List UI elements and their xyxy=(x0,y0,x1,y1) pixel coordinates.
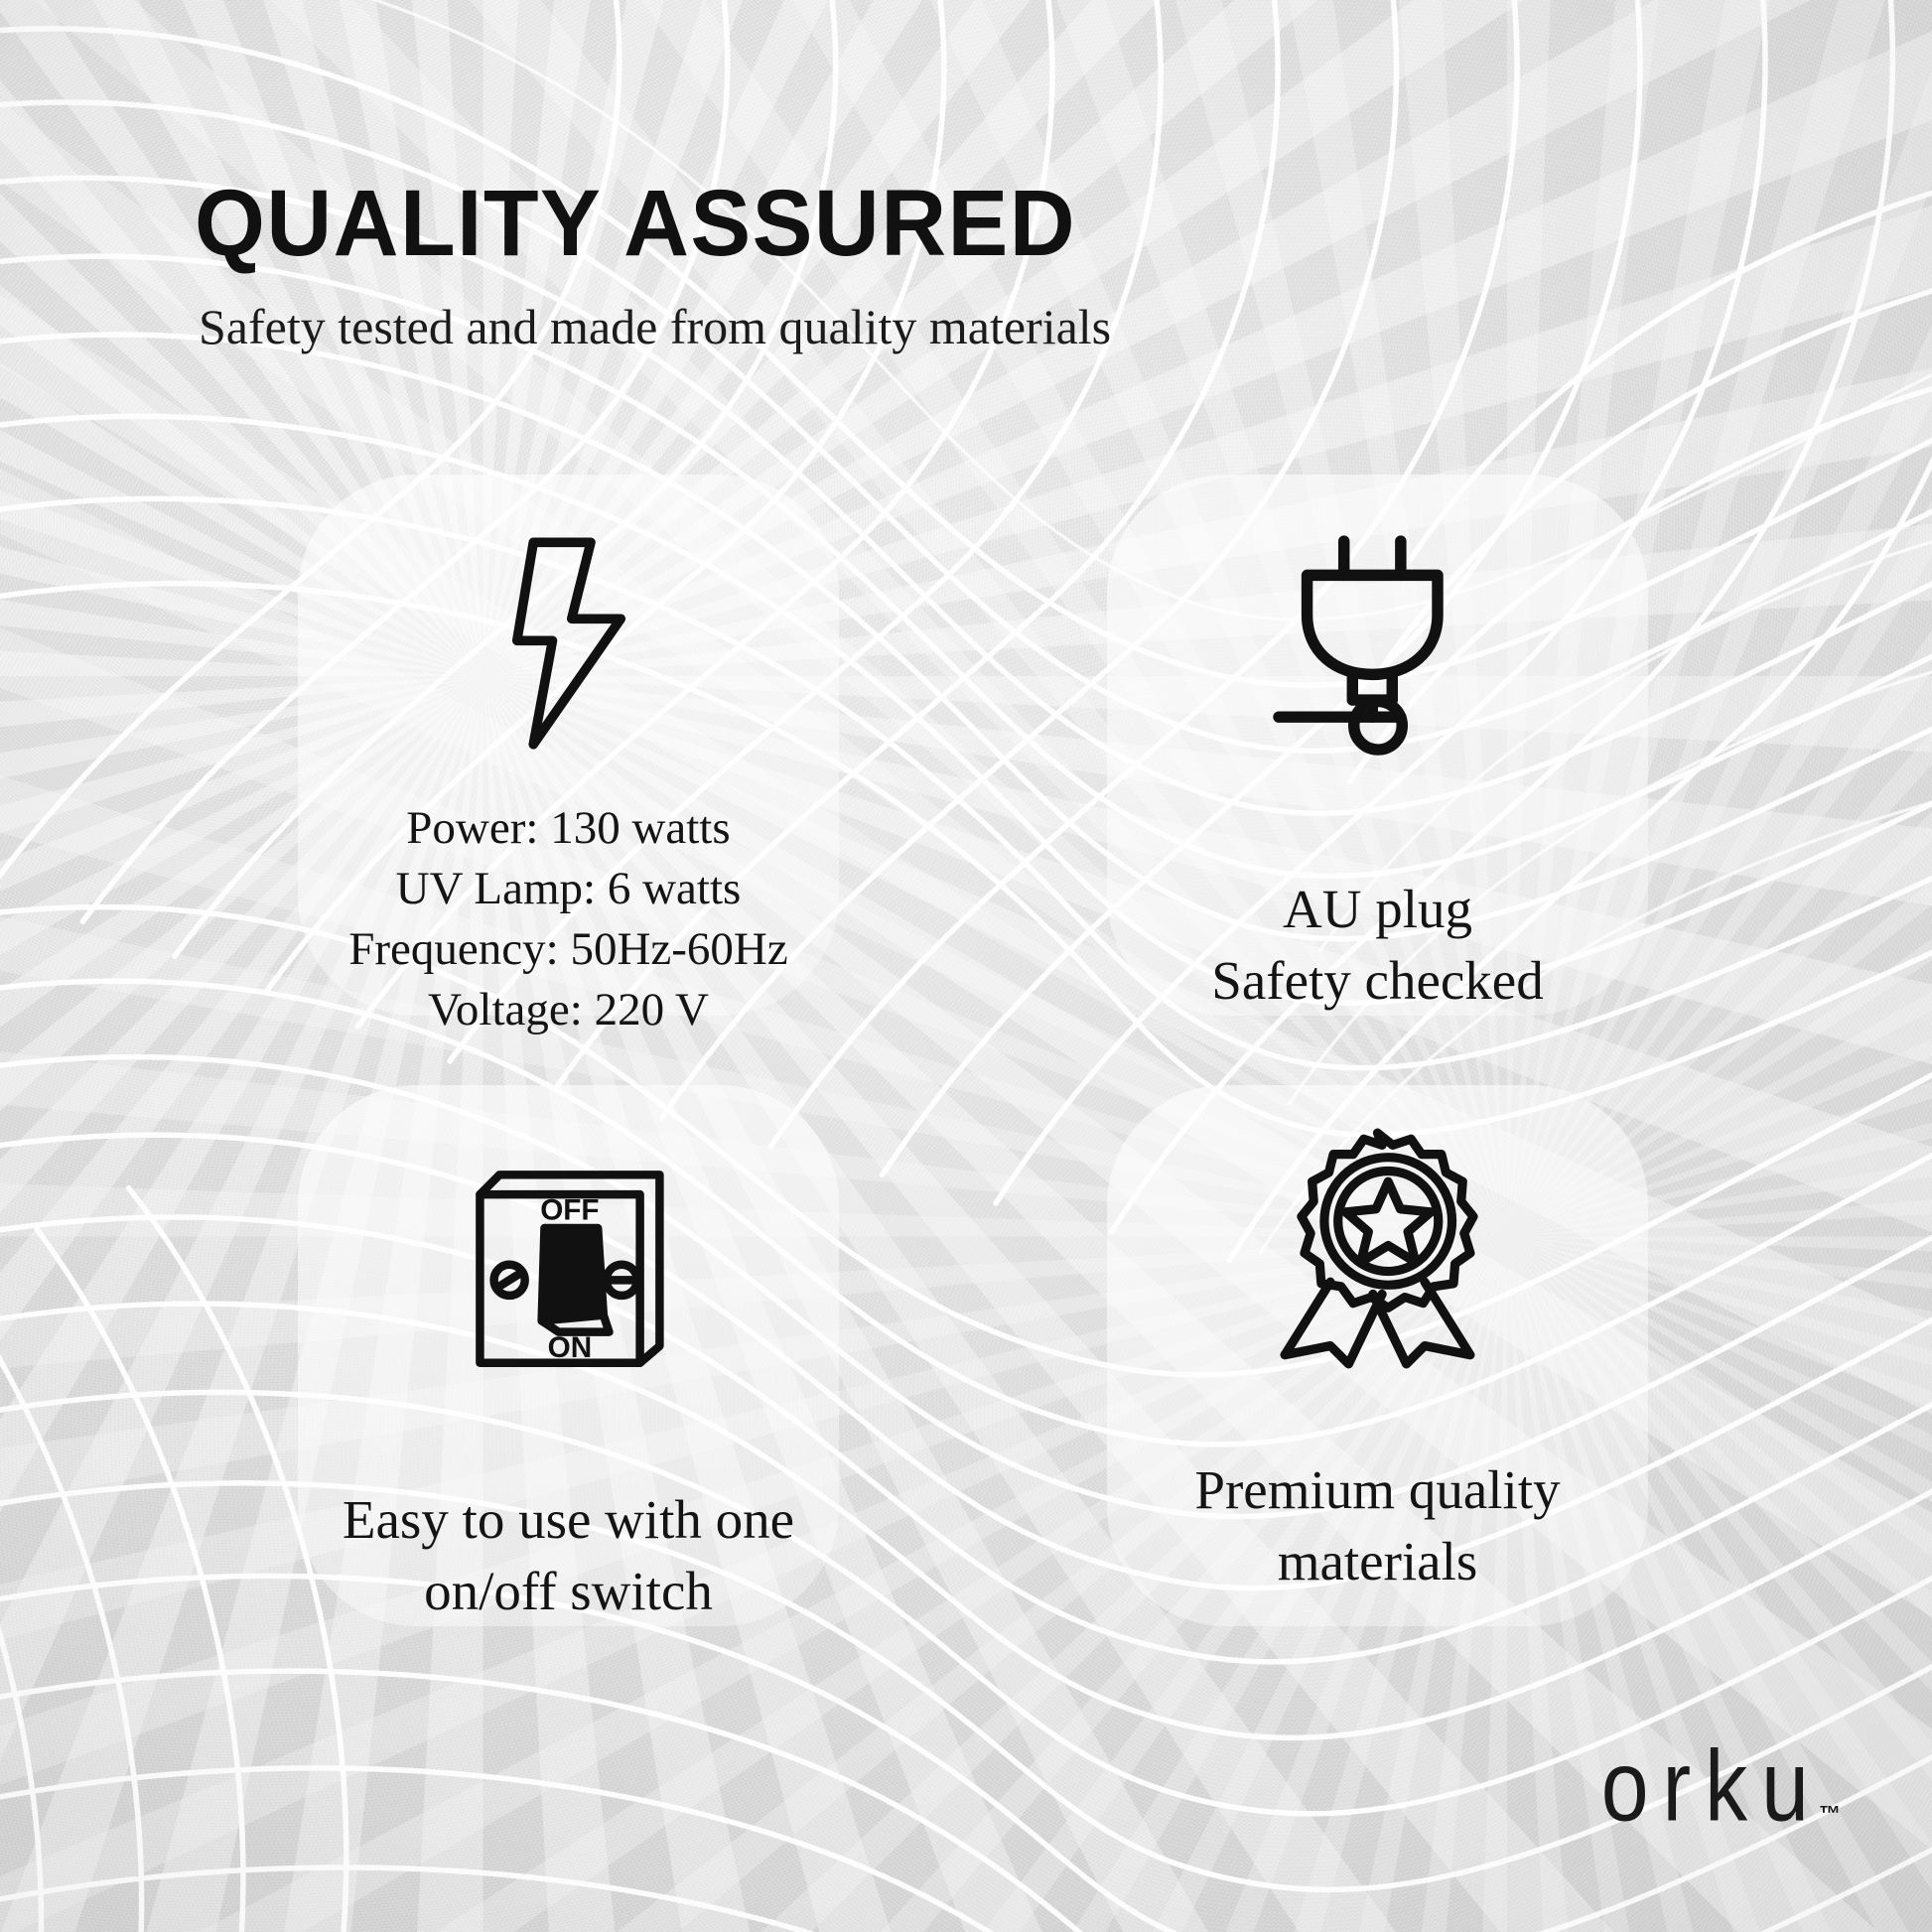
brand-logo: orku ™ xyxy=(1601,1751,1841,1837)
quality-text: Premium quality materials xyxy=(1194,1454,1560,1596)
quality-line-1: Premium quality xyxy=(1194,1454,1560,1526)
brand-logo-wordmark: orku xyxy=(1601,1736,1823,1837)
quality-assured-poster: QUALITY ASSURED Safety tested and made f… xyxy=(0,0,1932,1932)
spec-line-uv-lamp: UV Lamp: 6 watts xyxy=(348,859,787,919)
plug-line-1: AU plug xyxy=(1211,874,1543,945)
feature-card-switch: OFF ON Easy to use with one on/off switc… xyxy=(298,1085,839,1626)
award-rosette-icon xyxy=(1261,1131,1494,1359)
quality-line-2: materials xyxy=(1194,1526,1560,1597)
plug-text: AU plug Safety checked xyxy=(1211,874,1543,1016)
page-title: QUALITY ASSURED xyxy=(195,177,1338,271)
power-plug-icon xyxy=(1279,528,1477,755)
light-switch-icon: OFF ON xyxy=(462,1155,675,1375)
spec-line-voltage: Voltage: 220 V xyxy=(348,980,787,1040)
switch-line-1: Easy to use with one xyxy=(343,1484,794,1556)
plug-line-2: Safety checked xyxy=(1211,945,1543,1017)
switch-line-2: on/off switch xyxy=(343,1556,794,1627)
feature-card-plug: AU plug Safety checked xyxy=(1107,475,1648,1016)
switch-label-on: ON xyxy=(548,1331,593,1364)
header: QUALITY ASSURED Safety tested and made f… xyxy=(195,177,1386,356)
switch-label-off: OFF xyxy=(540,1193,599,1226)
spec-line-power: Power: 130 watts xyxy=(348,798,787,859)
feature-card-specifications: Power: 130 watts UV Lamp: 6 watts Freque… xyxy=(298,475,839,1016)
specifications-text: Power: 130 watts UV Lamp: 6 watts Freque… xyxy=(348,798,787,1040)
page-subtitle: Safety tested and made from quality mate… xyxy=(199,297,1386,356)
spec-line-frequency: Frequency: 50Hz-60Hz xyxy=(348,919,787,980)
switch-text: Easy to use with one on/off switch xyxy=(343,1484,794,1626)
feature-card-quality: Premium quality materials xyxy=(1107,1085,1648,1626)
feature-card-grid: Power: 130 watts UV Lamp: 6 watts Freque… xyxy=(298,475,1648,1626)
lightning-bolt-icon xyxy=(484,534,653,753)
